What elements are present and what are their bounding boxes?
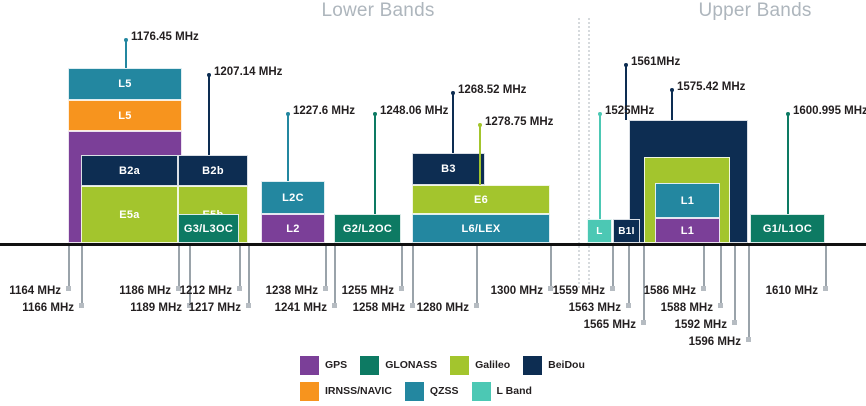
pointer-stem xyxy=(671,89,673,120)
leader-line xyxy=(325,246,327,289)
band-block-label: B2a xyxy=(119,165,140,177)
band-block-label: G3/L3OC xyxy=(184,223,233,235)
legend-swatch-galileo xyxy=(450,356,469,375)
leader-end-marker-icon xyxy=(323,286,328,291)
legend-swatch-glonass xyxy=(360,356,379,375)
band-block-b2a-beidou[interactable]: B2a xyxy=(81,155,178,186)
section-title-lower-bands: Lower Bands xyxy=(258,0,498,22)
pointer-stem xyxy=(374,113,376,214)
pointer-arrow-cap-icon xyxy=(786,112,790,116)
band-block-e5a-galileo[interactable]: E5a xyxy=(81,186,178,243)
pointer-stem xyxy=(125,39,127,68)
center-frequency-label: 1227.6 MHz xyxy=(293,105,355,117)
center-frequency-label: 1176.45 MHz xyxy=(131,31,199,43)
pointer-stem xyxy=(479,124,481,185)
leader-end-marker-icon xyxy=(79,303,84,308)
center-frequency-label: 1248.06 MHz xyxy=(380,105,448,117)
leader-end-marker-icon xyxy=(246,303,251,308)
pointer-stem xyxy=(787,113,789,214)
leader-line xyxy=(612,246,614,289)
leader-end-marker-icon xyxy=(732,320,737,325)
pointer-arrow-cap-icon xyxy=(478,123,482,127)
band-block-g1-l1oc-glonass[interactable]: G1/L1OC xyxy=(750,214,825,243)
pointer-stem xyxy=(452,92,454,153)
legend-swatch-beidou xyxy=(523,356,542,375)
leader-end-marker-icon xyxy=(626,303,631,308)
band-block-label: L2C xyxy=(282,192,304,204)
legend-item-l-band[interactable]: L Band xyxy=(472,382,532,401)
center-frequency-label: 1561MHz xyxy=(631,56,680,68)
band-block-label: L5 xyxy=(118,78,131,90)
center-frequency-label: 1525MHz xyxy=(605,105,654,117)
leader-line xyxy=(720,246,722,306)
band-block-l6-lex-qzss[interactable]: L6/LEX xyxy=(412,214,550,243)
band-edge-frequency-label: 1592 MHz xyxy=(675,319,727,331)
band-edge-frequency-label: 1217 MHz xyxy=(189,302,241,314)
band-block-label: B1I xyxy=(618,226,634,237)
leader-line xyxy=(401,246,403,289)
band-block-label: G2/L2OC xyxy=(343,223,392,235)
legend-swatch-lband xyxy=(472,382,491,401)
band-block-g2-l2oc-glonass[interactable]: G2/L2OC xyxy=(334,214,401,243)
legend-item-galileo[interactable]: Galileo xyxy=(450,356,510,375)
band-block-label: L1 xyxy=(681,195,694,207)
band-group-divider xyxy=(578,18,580,288)
legend-item-beidou[interactable]: BeiDou xyxy=(523,356,585,375)
leader-line xyxy=(476,246,478,306)
band-edge-frequency-label: 1280 MHz xyxy=(417,302,469,314)
legend-label: GLONASS xyxy=(385,359,437,371)
band-edge-frequency-label: 1189 MHz xyxy=(130,302,182,314)
legend-item-qzss[interactable]: QZSS xyxy=(405,382,459,401)
band-edge-frequency-label: 1241 MHz xyxy=(275,302,327,314)
leader-end-marker-icon xyxy=(746,337,751,342)
center-frequency-label: 1600.995 MHz xyxy=(793,105,866,117)
legend-item-gps[interactable]: GPS xyxy=(300,356,347,375)
leader-line xyxy=(248,246,250,306)
pointer-arrow-cap-icon xyxy=(286,112,290,116)
legend-swatch-irnss xyxy=(300,382,319,401)
band-edge-frequency-label: 1565 MHz xyxy=(584,319,636,331)
leader-line xyxy=(81,246,83,306)
pointer-arrow-cap-icon xyxy=(670,88,674,92)
band-edge-frequency-label: 1186 MHz xyxy=(119,285,171,297)
leader-line xyxy=(748,246,750,340)
band-block-label: E6 xyxy=(474,194,488,206)
leader-end-marker-icon xyxy=(823,286,828,291)
band-block-label: L2 xyxy=(286,223,299,235)
band-edge-frequency-label: 1563 MHz xyxy=(569,302,621,314)
legend-swatch-qzss xyxy=(405,382,424,401)
center-frequency-label: 1575.42 MHz xyxy=(677,81,745,93)
leader-line xyxy=(412,246,414,306)
pointer-arrow-cap-icon xyxy=(207,73,211,77)
band-edge-frequency-label: 1559 MHz xyxy=(553,285,605,297)
frequency-axis-line xyxy=(0,243,866,246)
leader-line xyxy=(628,246,630,306)
leader-line xyxy=(178,246,180,289)
band-block-label: E5a xyxy=(119,209,139,221)
pointer-arrow-cap-icon xyxy=(624,63,628,67)
legend-label: L Band xyxy=(497,385,532,397)
band-edge-frequency-label: 1164 MHz xyxy=(9,285,61,297)
pointer-arrow-cap-icon xyxy=(373,112,377,116)
leader-line xyxy=(68,246,70,289)
band-block-b3-beidou[interactable]: B3 xyxy=(412,153,485,185)
band-edge-frequency-label: 1212 MHz xyxy=(180,285,232,297)
band-edge-frequency-label: 1238 MHz xyxy=(266,285,318,297)
legend-label: Galileo xyxy=(475,359,510,371)
pointer-stem xyxy=(287,113,289,181)
pointer-stem xyxy=(208,74,210,155)
band-block-l2-gps[interactable]: L2 xyxy=(261,214,325,243)
band-block-l1-gps[interactable]: L1 xyxy=(655,218,720,243)
band-block-label: L1 xyxy=(681,225,694,237)
band-edge-frequency-label: 1166 MHz xyxy=(22,302,74,314)
leader-line xyxy=(825,246,827,289)
legend-label: IRNSS/NAVIC xyxy=(325,385,392,397)
band-block-label: L5 xyxy=(118,110,131,122)
legend-item-irnss-navic[interactable]: IRNSS/NAVIC xyxy=(300,382,392,401)
band-block-g3-l3oc-glonass[interactable]: G3/L3OC xyxy=(178,214,239,243)
band-block-b2b-beidou[interactable]: B2b xyxy=(178,155,248,186)
band-block-l5-irnss[interactable]: L5 xyxy=(68,100,182,131)
leader-line xyxy=(334,246,336,306)
band-block-label: B2b xyxy=(202,165,224,177)
leader-end-marker-icon xyxy=(718,303,723,308)
band-block-l-lband[interactable]: L xyxy=(587,219,612,243)
band-edge-frequency-label: 1300 MHz xyxy=(491,285,543,297)
legend-label: BeiDou xyxy=(548,359,585,371)
leader-end-marker-icon xyxy=(332,303,337,308)
legend-swatch-gps xyxy=(300,356,319,375)
band-group-divider-2 xyxy=(588,18,590,288)
pointer-arrow-cap-icon xyxy=(598,112,602,116)
band-edge-frequency-label: 1255 MHz xyxy=(342,285,394,297)
leader-line xyxy=(239,246,241,289)
band-block-label: B3 xyxy=(441,163,456,175)
leader-line xyxy=(703,246,705,289)
legend-row: GPSGLONASSGalileoBeiDou xyxy=(300,352,600,378)
center-frequency-label: 1278.75 MHz xyxy=(485,116,553,128)
gnss-band-diagram: Lower BandsUpper Bands L5L5L5B2aB2bE5aE5… xyxy=(0,0,866,406)
leader-end-marker-icon xyxy=(66,286,71,291)
leader-end-marker-icon xyxy=(237,286,242,291)
band-block-label: L xyxy=(596,226,602,237)
band-block-l5-qzss[interactable]: L5 xyxy=(68,68,182,100)
pointer-stem xyxy=(599,113,601,219)
legend-item-glonass[interactable]: GLONASS xyxy=(360,356,437,375)
leader-end-marker-icon xyxy=(474,303,479,308)
leader-line xyxy=(734,246,736,323)
leader-line xyxy=(550,246,552,289)
leader-end-marker-icon xyxy=(641,320,646,325)
legend-label: QZSS xyxy=(430,385,459,397)
leader-end-marker-icon xyxy=(610,286,615,291)
band-edge-frequency-label: 1258 MHz xyxy=(353,302,405,314)
leader-end-marker-icon xyxy=(399,286,404,291)
band-block-b1i-beidou[interactable]: B1I xyxy=(613,219,640,243)
band-block-label: G1/L1OC xyxy=(763,223,812,235)
band-edge-frequency-label: 1596 MHz xyxy=(689,336,741,348)
band-edge-frequency-label: 1588 MHz xyxy=(661,302,713,314)
band-edge-frequency-label: 1586 MHz xyxy=(644,285,696,297)
leader-end-marker-icon xyxy=(701,286,706,291)
leader-line xyxy=(189,246,191,306)
section-title-upper-bands: Upper Bands xyxy=(645,0,865,22)
band-block-l1-qzss[interactable]: L1 xyxy=(655,183,720,218)
legend-label: GPS xyxy=(325,359,347,371)
pointer-arrow-cap-icon xyxy=(124,38,128,42)
center-frequency-label: 1207.14 MHz xyxy=(214,66,282,78)
band-edge-frequency-label: 1610 MHz xyxy=(766,285,818,297)
center-frequency-label: 1268.52 MHz xyxy=(458,84,526,96)
leader-end-marker-icon xyxy=(410,303,415,308)
band-block-l2c-qzss[interactable]: L2C xyxy=(261,181,325,214)
legend: GPSGLONASSGalileoBeiDouIRNSS/NAVICQZSSL … xyxy=(300,352,600,404)
band-block-e6-galileo[interactable]: E6 xyxy=(412,185,550,214)
legend-row: IRNSS/NAVICQZSSL Band xyxy=(300,378,600,404)
pointer-arrow-cap-icon xyxy=(451,91,455,95)
band-block-label: L6/LEX xyxy=(461,223,500,235)
